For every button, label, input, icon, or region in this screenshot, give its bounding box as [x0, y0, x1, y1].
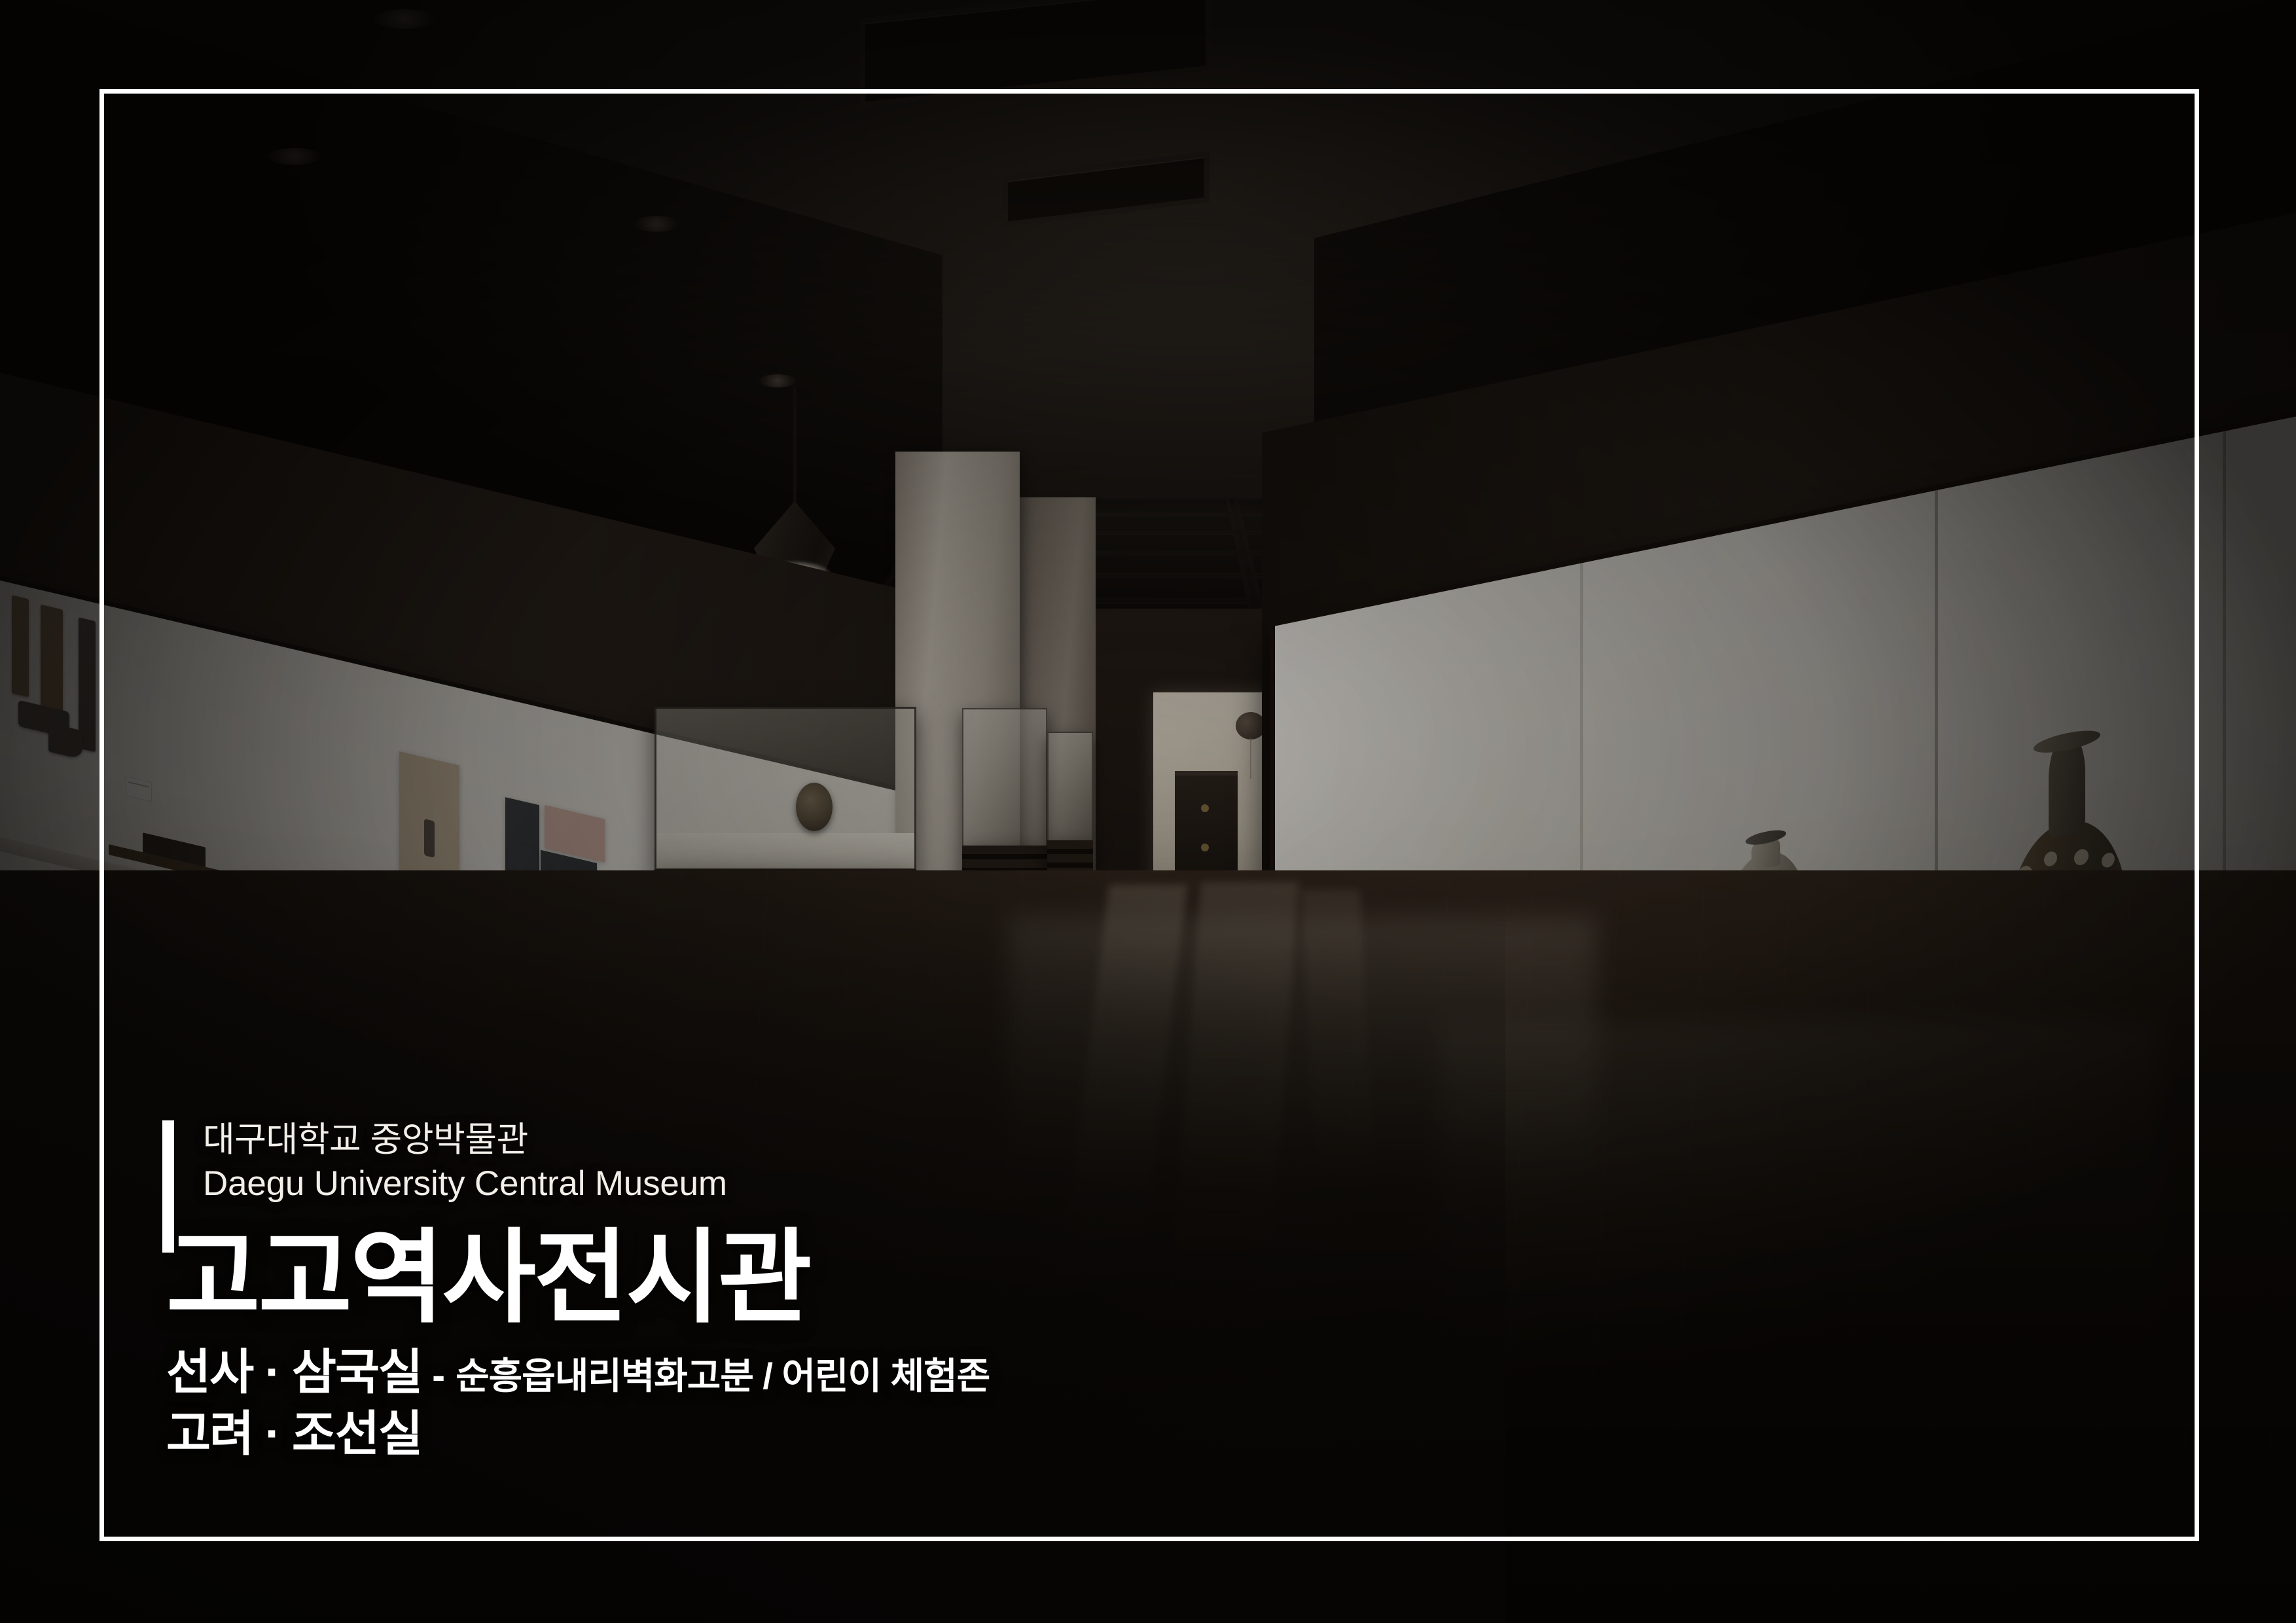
museum-name-ko: 대구대학교 중앙박물관: [203, 1118, 990, 1162]
museum-identity: 대구대학교 중앙박물관 Daegu University Central Mus…: [162, 1118, 990, 1207]
exhibit-tool: [12, 595, 29, 697]
page-title: 고고역사전시관: [166, 1226, 990, 1330]
exhibit-bronze-mirror: [796, 783, 833, 831]
subtitle-1-major: 선사 · 삼국실: [166, 1344, 422, 1400]
museum-name-en: Daegu University Central Museum: [203, 1162, 990, 1207]
subtitle-1-dash: -: [432, 1356, 445, 1395]
recessed-light-icon: [759, 374, 796, 387]
caption-block: 대구대학교 중앙박물관 Daegu University Central Mus…: [162, 1118, 990, 1462]
subtitle-line-2: 고려 · 조선실: [166, 1405, 990, 1462]
vitrine-deck: [656, 833, 914, 868]
exhibit-label: [126, 776, 152, 802]
exhibit-artifact: [424, 819, 435, 858]
pendant-lamp-cord: [793, 386, 797, 505]
recessed-light-icon: [268, 148, 321, 165]
recessed-light-icon: [634, 216, 679, 232]
subtitle-2-major: 고려 · 조선실: [166, 1405, 422, 1462]
exhibit-wooden-chest: [1175, 771, 1238, 876]
subtitle-line-1: 선사 · 삼국실 - 순흥읍내리벽화고분 / 어린이 체험존: [166, 1344, 990, 1400]
display-vitrine: [1047, 732, 1093, 842]
exhibit-tool: [48, 722, 82, 759]
floor-sheen: [1440, 1021, 2160, 1387]
main-display-vitrine: [655, 707, 916, 870]
display-vitrine: [962, 708, 1047, 847]
exhibit-hanging-cord: [1250, 738, 1251, 779]
accent-bar: [162, 1120, 174, 1253]
poster-root: 대구대학교 중앙박물관 Daegu University Central Mus…: [0, 0, 2296, 1623]
recessed-light-icon: [373, 9, 436, 29]
subtitle-1-minor: 순흥읍내리벽화고분 / 어린이 체험존: [456, 1354, 990, 1398]
